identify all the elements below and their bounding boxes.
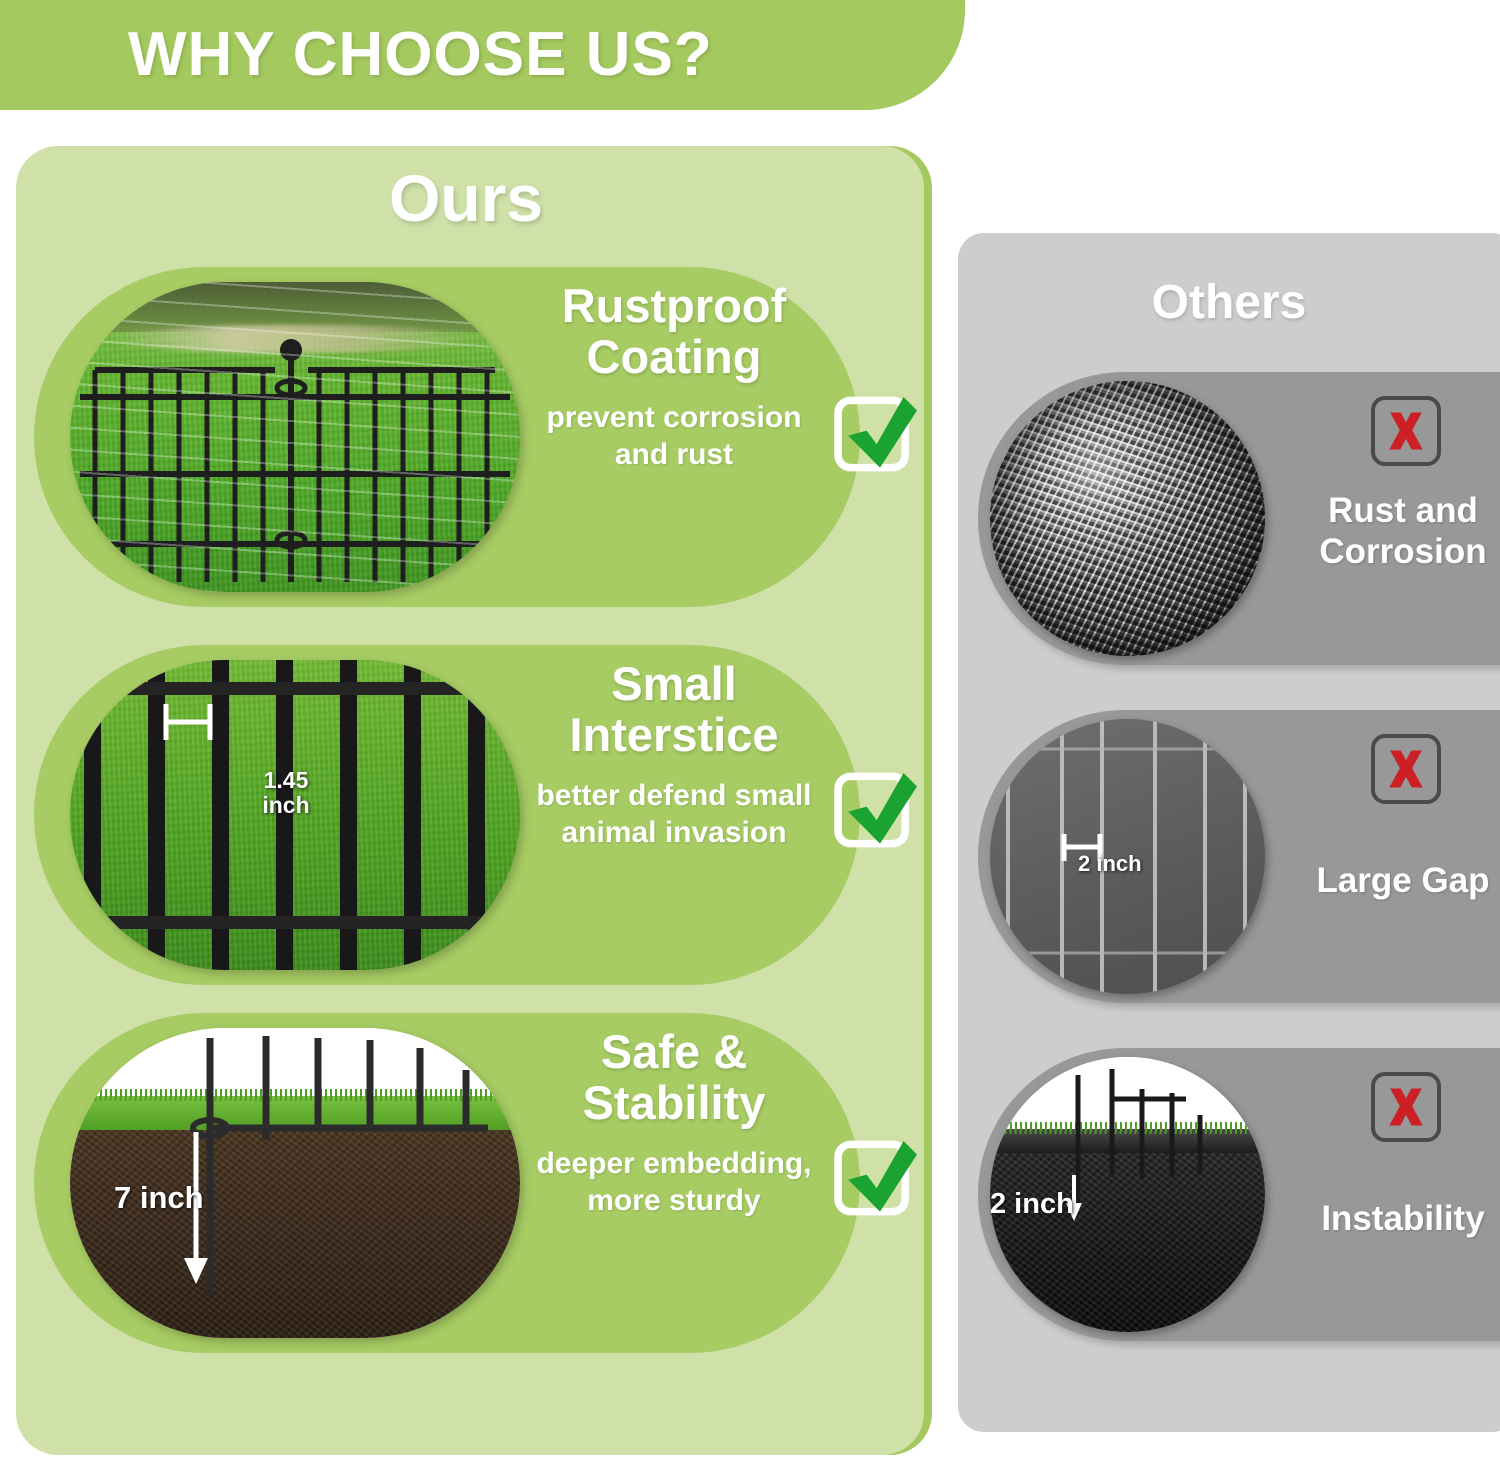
- ours-heading-line2: Interstice: [524, 710, 824, 761]
- ours-heading-line2: Coating: [524, 332, 824, 383]
- ours-row-rustproof: Rustproof Coating prevent corrosion and …: [34, 267, 860, 607]
- others-label-instability: Instability: [1278, 1198, 1500, 1239]
- ours-text-safe-stability: Safe & Stability deeper embedding, more …: [524, 1027, 824, 1220]
- ours-heading: Small Interstice: [524, 659, 824, 761]
- ours-heading-line1: Small: [524, 659, 824, 710]
- others-label-rust: Rust and Corrosion: [1278, 490, 1500, 573]
- ours-subtext-line1: prevent corrosion: [524, 399, 824, 437]
- ours-subtext-line1: better defend small: [524, 777, 824, 815]
- ours-row-small-interstice: Small Interstice better defend small ani…: [34, 645, 860, 985]
- others-label-line1: Instability: [1278, 1198, 1500, 1239]
- check-icon: [833, 1136, 917, 1220]
- header-banner: WHY CHOOSE US?: [0, 0, 965, 110]
- callout-ours-gap-value: 1.45: [256, 768, 316, 793]
- others-photo-wire-roll: [990, 381, 1265, 656]
- ours-heading-line2: Stability: [524, 1078, 824, 1129]
- others-row-large-gap: Large Gap: [978, 710, 1500, 1003]
- ours-text-small-interstice: Small Interstice better defend small ani…: [524, 659, 824, 852]
- check-icon: [833, 392, 917, 476]
- callout-ours-depth: 7 inch: [114, 1180, 204, 1216]
- ours-heading-line1: Rustproof: [524, 281, 824, 332]
- others-label-line2: Corrosion: [1278, 531, 1500, 572]
- ours-heading-line1: Safe &: [524, 1027, 824, 1078]
- callout-others-depth: 2 inch: [990, 1188, 1074, 1221]
- others-label-line1: Large Gap: [1278, 860, 1500, 901]
- callout-others-gap: 2 inch: [1078, 851, 1142, 877]
- ours-subtext-line2: animal invasion: [524, 814, 824, 852]
- others-label-line1: Rust and: [1278, 490, 1500, 531]
- ours-text-rustproof: Rustproof Coating prevent corrosion and …: [524, 281, 824, 474]
- callout-ours-gap-unit: inch: [256, 793, 316, 818]
- ours-heading: Rustproof Coating: [524, 281, 824, 383]
- ours-subtext: prevent corrosion and rust: [524, 399, 824, 474]
- ours-subtext-line2: and rust: [524, 436, 824, 474]
- others-row-rust: Rust and Corrosion: [978, 372, 1500, 665]
- callout-ours-gap: 1.45 inch: [256, 768, 316, 819]
- others-panel-title: Others: [958, 275, 1500, 330]
- check-icon: [833, 768, 917, 852]
- ours-heading: Safe & Stability: [524, 1027, 824, 1129]
- ours-subtext-line2: more sturdy: [524, 1182, 824, 1220]
- page-title: WHY CHOOSE US?: [128, 24, 713, 86]
- ours-panel-title: Ours: [16, 160, 916, 236]
- ours-subtext: deeper embedding, more sturdy: [524, 1145, 824, 1220]
- others-label-large-gap: Large Gap: [1278, 860, 1500, 901]
- ours-subtext-line1: deeper embedding,: [524, 1145, 824, 1183]
- x-icon: [1371, 1072, 1441, 1142]
- ours-subtext: better defend small animal invasion: [524, 777, 824, 852]
- ours-photo-fence-rain: [70, 282, 520, 592]
- x-icon: [1371, 396, 1441, 466]
- x-icon: [1371, 734, 1441, 804]
